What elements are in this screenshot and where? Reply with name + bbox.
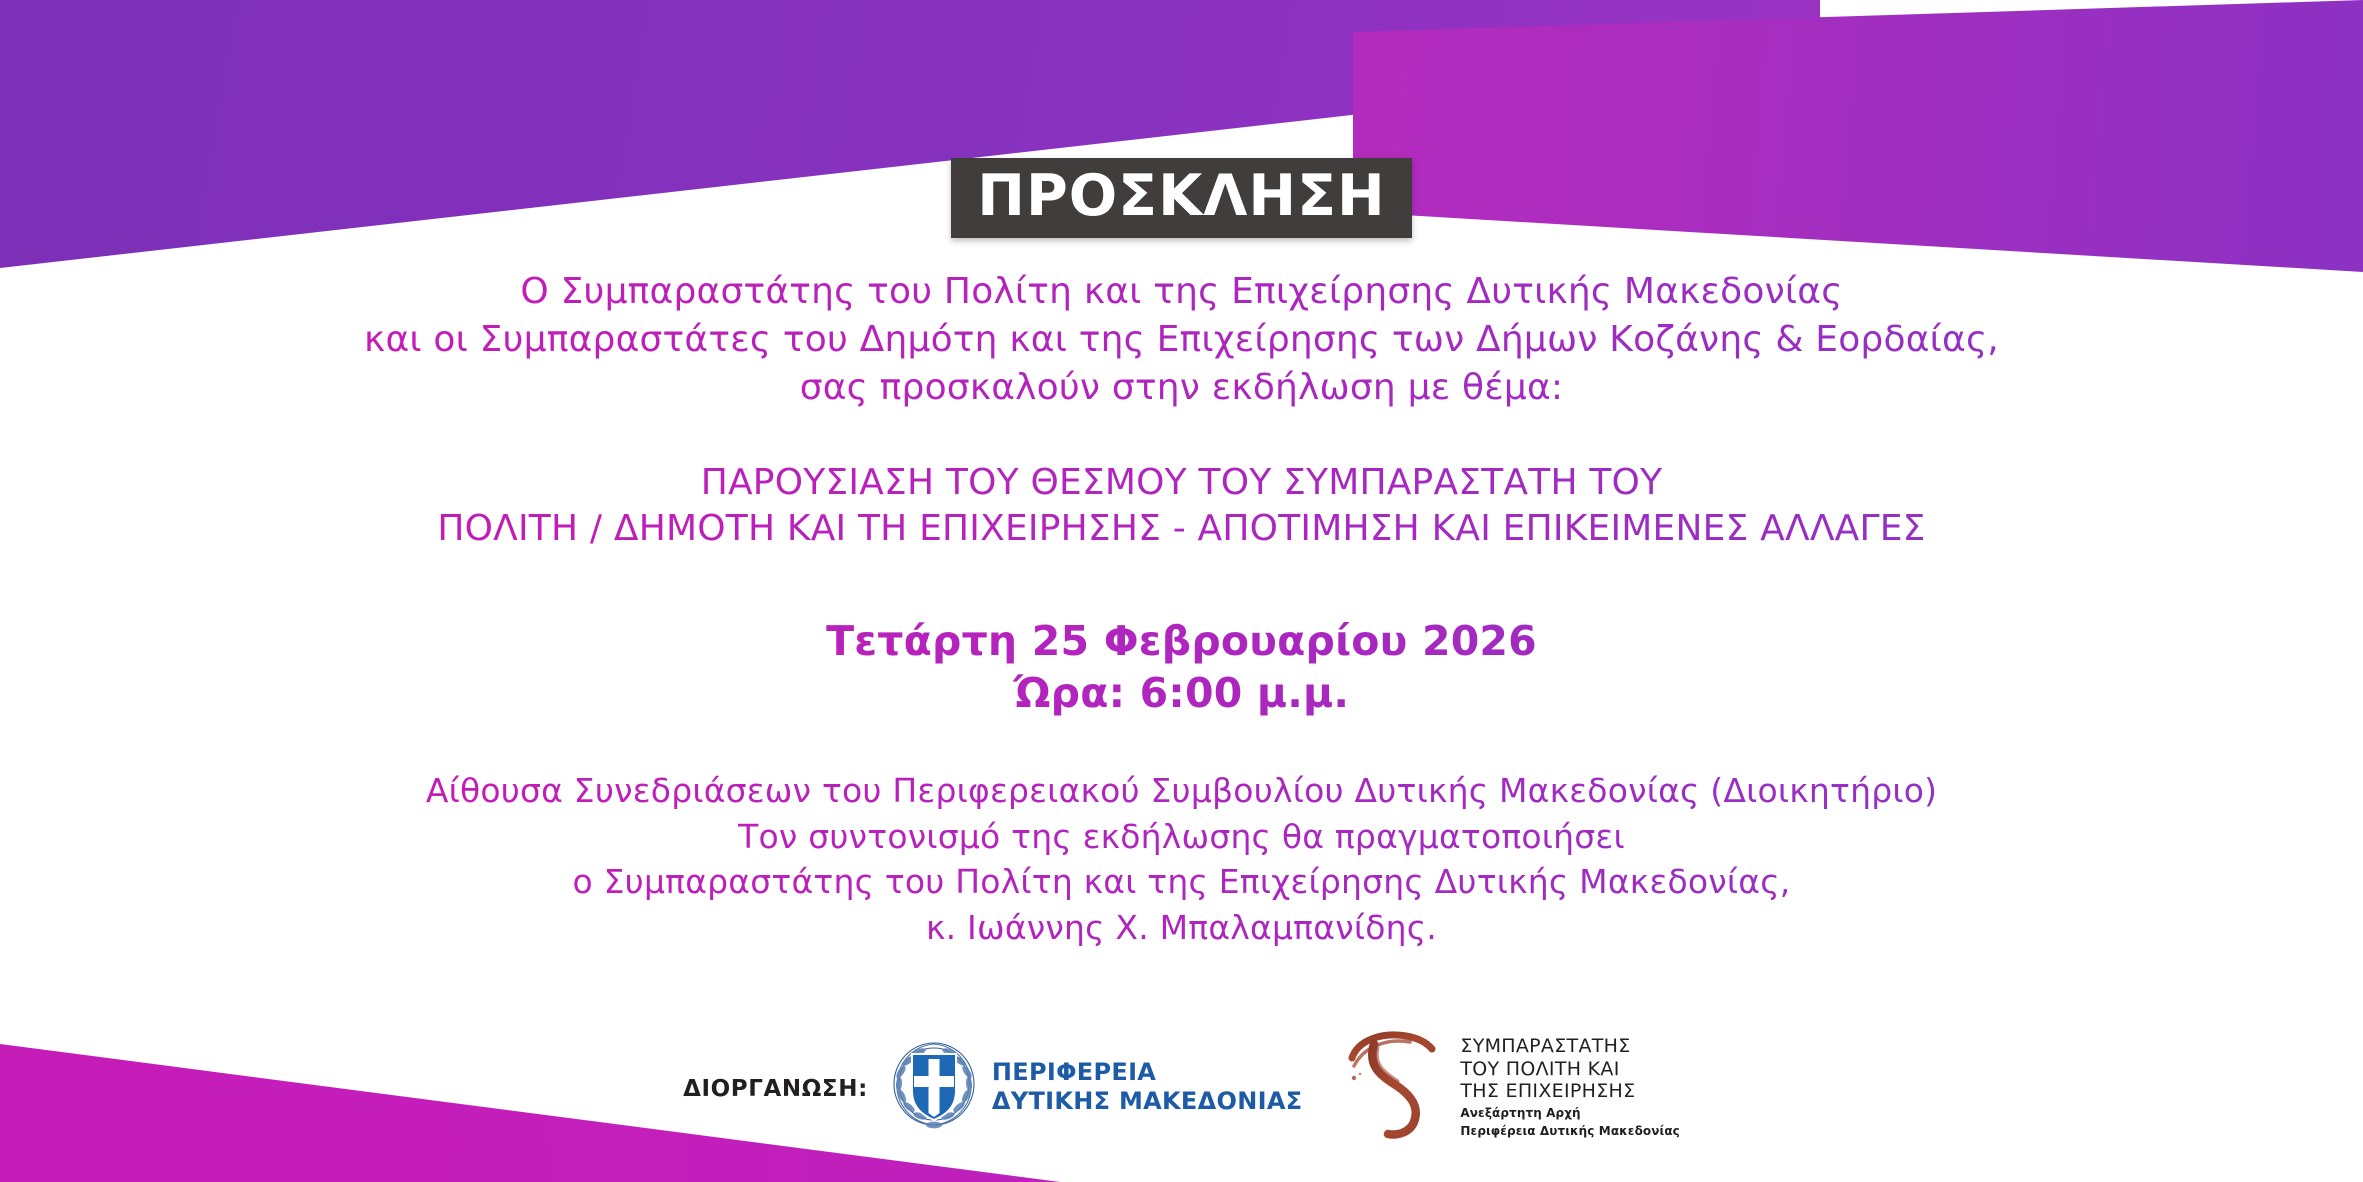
invitation-poster: ΠΡΟΣΚΛΗΣΗ Ο Συμπαραστάτης του Πολίτη και… [0,0,2363,1182]
subject-headline: ΠΑΡΟΥΣΙΑΣΗ ΤΟΥ ΘΕΣΜΟΥ ΤΟΥ ΣΥΜΠΑΡΑΣΤΑΤΗ Τ… [0,460,2363,551]
venue-line-2: Τον συντονισμό της εκδήλωσης θα πραγματο… [0,814,2363,860]
region-logo-text: ΠΕΡΙΦΕΡΕΙΑ ΔΥΤΙΚΗΣ ΜΑΚΕΔΟΝΙΑΣ [992,1058,1303,1117]
intro-paragraph: Ο Συμπαραστάτης του Πολίτη και της Επιχε… [0,268,2363,412]
event-datetime: Τετάρτη 25 Φεβρουαρίου 2026 Ώρα: 6:00 μ.… [0,615,2363,720]
ombudsman-logo-sub-2: Περιφέρεια Δυτικής Μακεδονίας [1460,1124,1680,1139]
event-time: Ώρα: 6:00 μ.μ. [0,667,2363,719]
brushstroke-s-icon [1348,1030,1448,1144]
intro-line-3: σας προσκαλούν στην εκδήλωση με θέμα: [0,364,2363,412]
region-logo-line-1: ΠΕΡΙΦΕΡΕΙΑ [992,1058,1303,1087]
ombudsman-logo-text: ΣΥΜΠΑΡΑΣΤΑΤΗΣ ΤΟΥ ΠΟΛΙΤΗ ΚΑΙ ΤΗΣ ΕΠΙΧΕΙΡ… [1460,1035,1680,1139]
greek-coat-of-arms-icon [890,1039,978,1135]
event-date: Τετάρτη 25 Φεβρουαρίου 2026 [0,615,2363,667]
subject-line-2: ΠΟΛΙΤΗ / ΔΗΜΟΤΗ ΚΑΙ ΤΗ ΕΠΙΧΕΙΡΗΣΗΣ - ΑΠΟ… [0,506,2363,552]
ombudsman-logo-line-2: ΤΟΥ ΠΟΛΙΤΗ ΚΑΙ [1460,1058,1680,1081]
ombudsman-logo-line-1: ΣΥΜΠΑΡΑΣΤΑΤΗΣ [1460,1035,1680,1058]
region-logo: ΠΕΡΙΦΕΡΕΙΑ ΔΥΤΙΚΗΣ ΜΑΚΕΔΟΝΙΑΣ [890,1039,1303,1135]
ombudsman-logo: ΣΥΜΠΑΡΑΣΤΑΤΗΣ ΤΟΥ ΠΟΛΙΤΗ ΚΑΙ ΤΗΣ ΕΠΙΧΕΙΡ… [1348,1030,1680,1144]
intro-line-2: και οι Συμπαραστάτες του Δημότη και της … [0,316,2363,364]
poster-content: ΠΡΟΣΚΛΗΣΗ Ο Συμπαραστάτης του Πολίτη και… [0,0,2363,1182]
footer-logos: ΔΙΟΡΓΑΝΩΣΗ: [0,1030,2363,1144]
organizer-label: ΔΙΟΡΓΑΝΩΣΗ: [683,1076,868,1102]
intro-line-1: Ο Συμπαραστάτης του Πολίτη και της Επιχε… [0,268,2363,316]
venue-line-1: Αίθουσα Συνεδριάσεων του Περιφερειακού Σ… [0,768,2363,814]
subject-line-1: ΠΑΡΟΥΣΙΑΣΗ ΤΟΥ ΘΕΣΜΟΥ ΤΟΥ ΣΥΜΠΑΡΑΣΤΑΤΗ Τ… [0,460,2363,506]
ombudsman-logo-line-3: ΤΗΣ ΕΠΙΧΕΙΡΗΣΗΣ [1460,1080,1680,1103]
page-title: ΠΡΟΣΚΛΗΣΗ [951,158,1412,238]
region-logo-line-2: ΔΥΤΙΚΗΣ ΜΑΚΕΔΟΝΙΑΣ [992,1087,1303,1116]
venue-line-4: κ. Ιωάννης Χ. Μπαλαμπανίδης. [0,905,2363,951]
venue-paragraph: Αίθουσα Συνεδριάσεων του Περιφερειακού Σ… [0,768,2363,950]
ombudsman-logo-sub-1: Ανεξάρτητη Αρχή [1460,1106,1680,1121]
venue-line-3: ο Συμπαραστάτης του Πολίτη και της Επιχε… [0,859,2363,905]
title-wrapper: ΠΡΟΣΚΛΗΣΗ [0,158,2363,238]
